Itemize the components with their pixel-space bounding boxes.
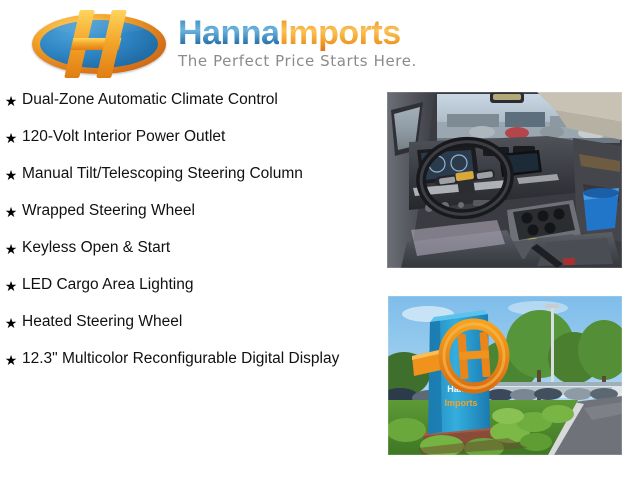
- list-item: ★ 120-Volt Interior Power Outlet: [0, 127, 380, 148]
- vehicle-feature-list: ★ Dual-Zone Automatic Climate Control ★ …: [0, 90, 380, 386]
- vehicle-interior-photo[interactable]: [387, 92, 622, 268]
- list-item: ★ Keyless Open & Start: [0, 238, 380, 259]
- header-banner: HannaImports The Perfect Price Starts He…: [0, 0, 640, 86]
- feature-label: Heated Steering Wheel: [22, 312, 380, 332]
- brand-name-imports: Imports: [279, 14, 400, 52]
- brand-tagline: The Perfect Price Starts Here.: [178, 52, 417, 70]
- star-bullet-icon: ★: [0, 127, 22, 148]
- list-item: ★ Heated Steering Wheel: [0, 312, 380, 333]
- list-item: ★ 12.3" Multicolor Reconfigurable Digita…: [0, 349, 380, 370]
- list-item: ★ Dual-Zone Automatic Climate Control: [0, 90, 380, 111]
- list-item: ★ Wrapped Steering Wheel: [0, 201, 380, 222]
- star-bullet-icon: ★: [0, 238, 22, 259]
- brand-wordmark-group: HannaImports The Perfect Price Starts He…: [178, 8, 417, 70]
- feature-label: Keyless Open & Start: [22, 238, 380, 258]
- star-bullet-icon: ★: [0, 164, 22, 185]
- feature-label: Manual Tilt/Telescoping Steering Column: [22, 164, 380, 184]
- feature-label: 120-Volt Interior Power Outlet: [22, 127, 380, 147]
- dealership-sign-photo-graphic: 240 Hanna Imports: [388, 296, 622, 455]
- hanna-oval-h-logo-icon: [28, 8, 170, 80]
- brand-logo-lockup[interactable]: HannaImports The Perfect Price Starts He…: [28, 8, 417, 80]
- star-bullet-icon: ★: [0, 312, 22, 333]
- feature-label: 12.3" Multicolor Reconfigurable Digital …: [22, 349, 380, 369]
- star-bullet-icon: ★: [0, 201, 22, 222]
- brand-wordmark: HannaImports: [178, 16, 417, 50]
- star-bullet-icon: ★: [0, 90, 22, 111]
- star-bullet-icon: ★: [0, 275, 22, 296]
- dealership-sign-photo[interactable]: 240 Hanna Imports: [388, 296, 622, 455]
- sign-text-imports: Imports: [444, 398, 477, 408]
- star-bullet-icon: ★: [0, 349, 22, 370]
- feature-label: Dual-Zone Automatic Climate Control: [22, 90, 380, 110]
- feature-label: LED Cargo Area Lighting: [22, 275, 380, 295]
- brand-name-hanna: Hanna: [178, 14, 279, 52]
- vehicle-interior-photo-graphic: [387, 92, 622, 268]
- list-item: ★ LED Cargo Area Lighting: [0, 275, 380, 296]
- feature-label: Wrapped Steering Wheel: [22, 201, 380, 221]
- list-item: ★ Manual Tilt/Telescoping Steering Colum…: [0, 164, 380, 185]
